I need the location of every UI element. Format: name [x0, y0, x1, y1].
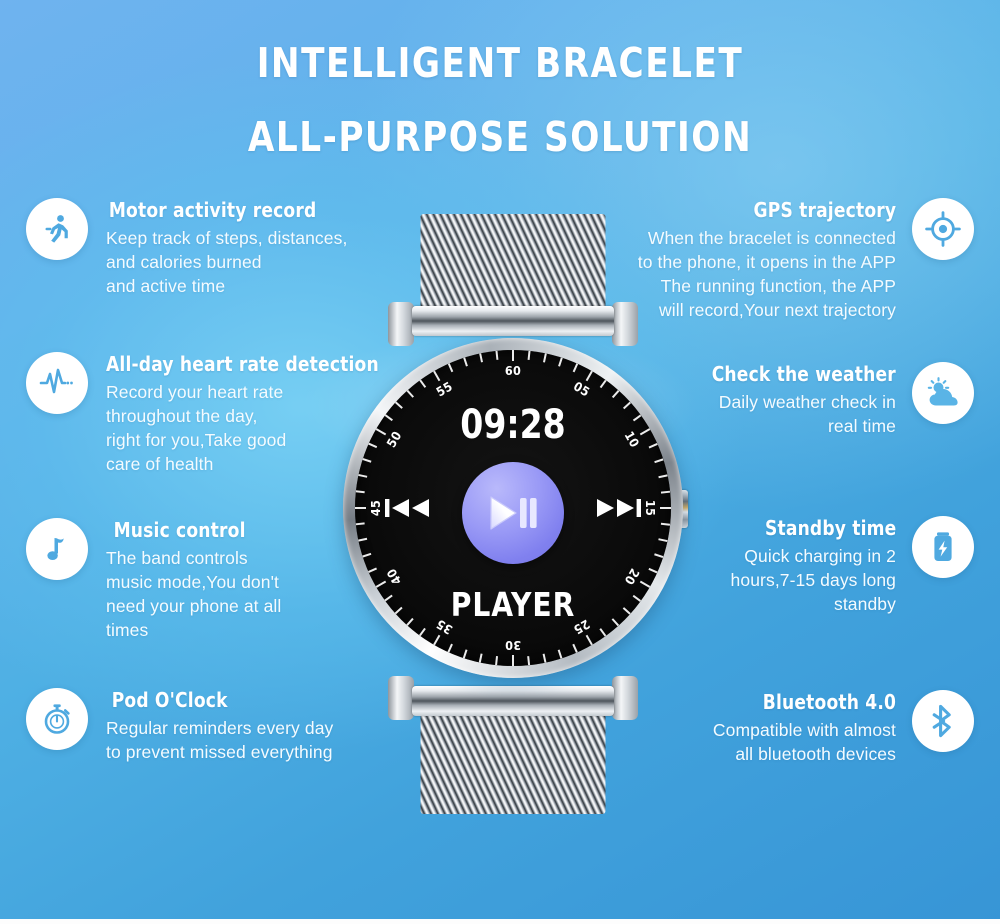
- feature-description: The band controls music mode,You don't n…: [106, 546, 281, 642]
- desc-line: and calories burned: [106, 250, 347, 274]
- feature-pod-oclock[interactable]: Pod O'Clock Regular reminders every day …: [26, 688, 333, 764]
- bezel-tick: [433, 371, 440, 382]
- watch-screen: 600510152025303540455055 09:28: [355, 350, 671, 666]
- watch-band-top: [421, 214, 606, 312]
- bezel-tick: [448, 644, 453, 653]
- watch-case: 600510152025303540455055 09:28: [343, 338, 683, 678]
- watch-band-bottom: [421, 706, 606, 814]
- feature-gps-trajectory[interactable]: GPS trajectory When the bracelet is conn…: [638, 198, 974, 322]
- bezel-tick: [448, 363, 453, 372]
- bezel-tick: [496, 656, 499, 665]
- heart-rate-pulse-icon-badge: [26, 352, 88, 414]
- feature-standby-time[interactable]: Standby time Quick charging in 2 hours,7…: [731, 516, 974, 616]
- play-pause-icon[interactable]: [462, 462, 564, 564]
- feature-text: GPS trajectory When the bracelet is conn…: [638, 198, 912, 322]
- running-person-icon-badge: [26, 198, 88, 260]
- battery-charging-icon-badge: [912, 516, 974, 578]
- watch-lug: [612, 302, 638, 346]
- feature-title: Standby time: [739, 516, 896, 541]
- bluetooth-icon-badge: [912, 690, 974, 752]
- watch-lug: [388, 302, 414, 346]
- feature-title: Pod O'Clock: [106, 688, 322, 713]
- bezel-tick: [600, 380, 607, 388]
- stopwatch-icon-badge: [26, 688, 88, 750]
- feature-heart-rate-detection[interactable]: All-day heart rate detection Record your…: [26, 352, 393, 476]
- bezel-tick: [463, 357, 467, 366]
- gps-target-icon: [924, 210, 962, 248]
- bezel-tick: [543, 353, 546, 362]
- feature-description: Daily weather check in real time: [702, 390, 896, 438]
- bezel-tick: [433, 635, 440, 646]
- bezel-tick: [356, 523, 365, 526]
- bezel-tick: [479, 654, 482, 663]
- bezel-tick: [600, 628, 607, 636]
- bezel-tick: [463, 649, 467, 658]
- sun-cloud-icon-badge: [912, 362, 974, 424]
- feature-text: All-day heart rate detection Record your…: [88, 352, 393, 476]
- running-person-icon: [39, 211, 75, 247]
- bezel-tick: [573, 644, 578, 653]
- bottom-edge-strip: [0, 919, 1000, 924]
- feature-title: Music control: [106, 518, 273, 543]
- desc-line: Regular reminders every day: [106, 716, 333, 740]
- feature-description: Record your heart rate throughout the da…: [106, 380, 393, 476]
- feature-title: All-day heart rate detection: [106, 352, 379, 377]
- desc-line: Quick charging in 2: [731, 544, 896, 568]
- bezel-tick: [654, 458, 663, 462]
- watch-endlink: [412, 306, 614, 336]
- bezel-tick: [543, 654, 546, 663]
- stopwatch-icon: [39, 701, 75, 737]
- bezel-tick: [419, 380, 426, 388]
- bezel-tick: [654, 553, 663, 557]
- smartwatch-product-image: 600510152025303540455055 09:28: [348, 214, 678, 814]
- bezel-tick: [586, 371, 593, 382]
- bezel-number: 60: [504, 363, 522, 378]
- desc-line: care of health: [106, 452, 393, 476]
- desc-line: real time: [702, 414, 896, 438]
- bezel-number: 05: [570, 378, 593, 400]
- desc-line: Compatible with almost: [713, 718, 896, 742]
- desc-line: throughout the day,: [106, 404, 393, 428]
- bezel-tick: [586, 635, 593, 646]
- bezel-tick: [661, 523, 670, 526]
- desc-line: The running function, the APP: [638, 274, 896, 298]
- bezel-tick: [659, 474, 668, 477]
- feature-text: Check the weather Daily weather check in…: [702, 362, 912, 438]
- heart-rate-pulse-icon: [38, 364, 76, 402]
- desc-line: hours,7-15 days long: [731, 568, 896, 592]
- previous-track-icon[interactable]: [381, 495, 435, 521]
- feature-title: Check the weather: [712, 362, 896, 387]
- feature-description: Compatible with almost all bluetooth dev…: [713, 718, 896, 766]
- feature-title: GPS trajectory: [651, 198, 896, 223]
- bezel-tick: [419, 628, 426, 636]
- feature-text: Music control The band controls music mo…: [88, 518, 281, 642]
- bezel-tick: [661, 491, 670, 494]
- desc-line: to prevent missed everything: [106, 740, 333, 764]
- page-title: INTELLIGENT BRACELET ALL-PURPOSE SOLUTIO…: [0, 26, 1000, 174]
- desc-line: music mode,You don't: [106, 570, 281, 594]
- feature-title: Motor activity record: [106, 198, 335, 223]
- desc-line: right for you,Take good: [106, 428, 393, 452]
- battery-charging-icon: [926, 529, 960, 565]
- desc-line: Daily weather check in: [702, 390, 896, 414]
- desc-line: to the phone, it opens in the APP: [638, 250, 896, 274]
- bezel-tick: [355, 507, 366, 509]
- bezel-tick: [649, 568, 658, 573]
- watch-lug: [388, 676, 414, 720]
- bezel-number: 30: [504, 638, 522, 653]
- feature-title: Bluetooth 4.0: [722, 690, 896, 715]
- bezel-tick: [479, 353, 482, 362]
- feature-text: Pod O'Clock Regular reminders every day …: [88, 688, 333, 764]
- bezel-tick: [659, 538, 668, 541]
- bezel-tick: [528, 656, 531, 665]
- desc-line: and active time: [106, 274, 347, 298]
- feature-description: Quick charging in 2 hours,7-15 days long…: [731, 544, 896, 616]
- desc-line: will record,Your next trajectory: [638, 298, 896, 322]
- desc-line: need your phone at all: [106, 594, 281, 618]
- bezel-tick: [512, 350, 514, 361]
- desc-line: Keep track of steps, distances,: [106, 226, 347, 250]
- feature-music-control[interactable]: Music control The band controls music mo…: [26, 518, 281, 642]
- desc-line: Record your heart rate: [106, 380, 393, 404]
- headline-line-1: INTELLIGENT BRACELET: [35, 26, 965, 100]
- music-note-icon: [40, 532, 74, 566]
- music-note-icon-badge: [26, 518, 88, 580]
- watch-lug: [612, 676, 638, 720]
- watch-time-display: 09:28: [368, 402, 659, 448]
- bezel-tick: [362, 553, 371, 557]
- bezel-tick: [612, 390, 619, 398]
- bezel-tick: [407, 390, 414, 398]
- bezel-tick: [368, 568, 377, 573]
- desc-line: standby: [731, 592, 896, 616]
- bezel-tick: [558, 357, 562, 366]
- bezel-tick: [558, 649, 562, 658]
- watch-screen-label: PLAYER: [363, 585, 663, 624]
- feature-bluetooth[interactable]: Bluetooth 4.0 Compatible with almost all…: [713, 690, 974, 766]
- next-track-icon[interactable]: [591, 495, 645, 521]
- desc-line: times: [106, 618, 281, 642]
- feature-text: Standby time Quick charging in 2 hours,7…: [731, 516, 912, 616]
- feature-motor-activity-record[interactable]: Motor activity record Keep track of step…: [26, 198, 347, 298]
- bezel-tick: [660, 507, 671, 509]
- bezel-tick: [356, 491, 365, 494]
- gps-target-icon-badge: [912, 198, 974, 260]
- feature-description: Keep track of steps, distances, and calo…: [106, 226, 347, 298]
- bezel-tick: [512, 655, 514, 666]
- sun-cloud-icon: [923, 375, 963, 411]
- bezel-number: 55: [433, 378, 456, 400]
- bezel-tick: [496, 351, 499, 360]
- desc-line: all bluetooth devices: [713, 742, 896, 766]
- desc-line: When the bracelet is connected: [638, 226, 896, 250]
- desc-line: The band controls: [106, 546, 281, 570]
- bezel-number: 15: [643, 499, 658, 517]
- bluetooth-icon: [926, 703, 960, 739]
- watch-endlink: [412, 686, 614, 716]
- bezel-tick: [573, 363, 578, 372]
- headline-line-2: ALL-PURPOSE SOLUTION: [35, 100, 965, 174]
- feature-check-the-weather[interactable]: Check the weather Daily weather check in…: [702, 362, 974, 438]
- feature-text: Bluetooth 4.0 Compatible with almost all…: [713, 690, 912, 766]
- feature-description: Regular reminders every day to prevent m…: [106, 716, 333, 764]
- feature-text: Motor activity record Keep track of step…: [88, 198, 347, 298]
- bezel-tick: [358, 538, 367, 541]
- feature-description: When the bracelet is connected to the ph…: [638, 226, 896, 322]
- bezel-tick: [528, 351, 531, 360]
